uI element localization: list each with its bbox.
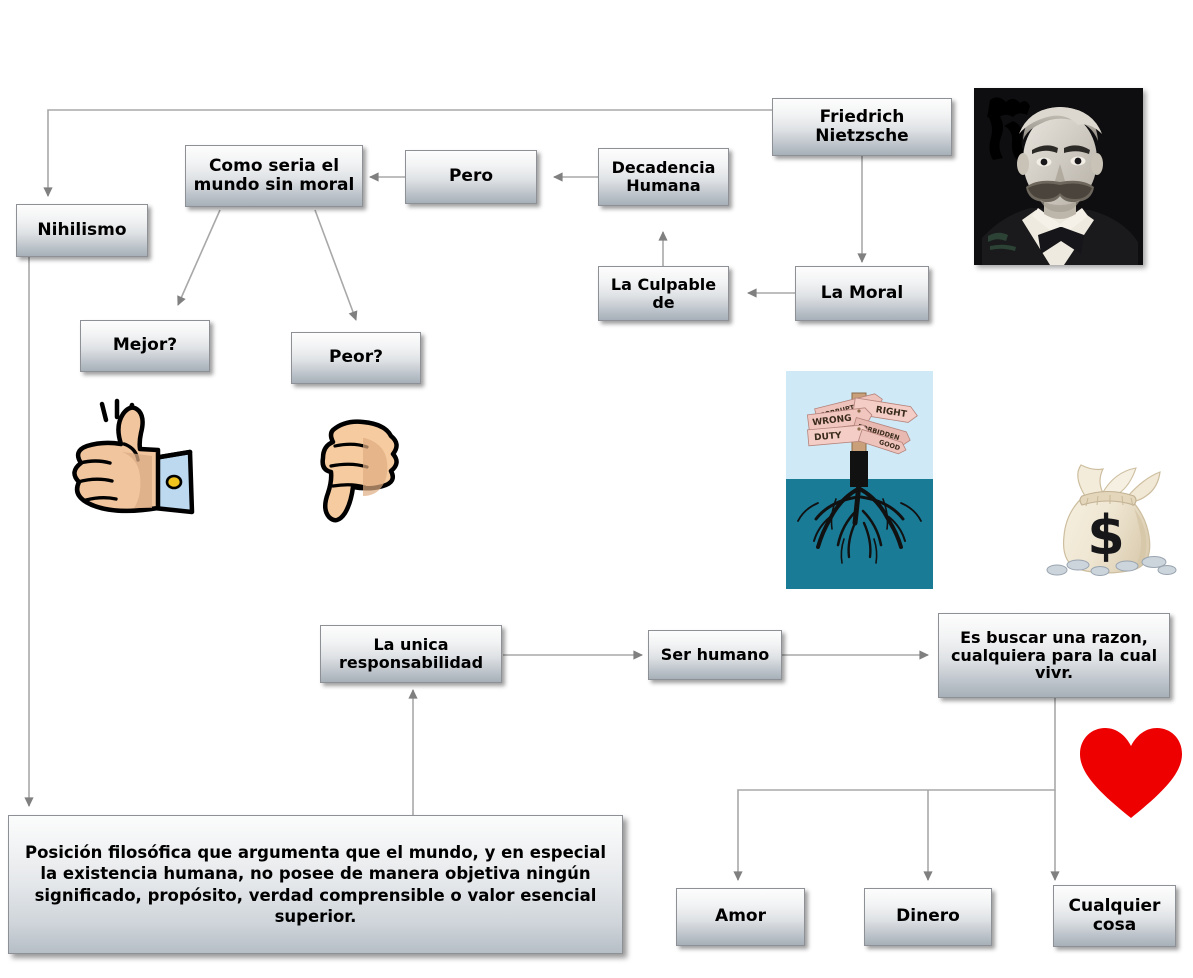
node-label: Friedrich Nietzsche [779,108,945,146]
node-label: Ser humano [655,646,775,664]
node-label: Pero [412,167,530,186]
concept-map-canvas: Friedrich Nietzsche Decadencia Humana Pe… [0,0,1193,978]
node-definicion-nihilismo[interactable]: Posición filosófica que argumenta que el… [8,815,623,954]
moral-signpost-illustration: CORRUPT RIGHT WRONG FORBIDDEN DUTY [786,371,933,589]
node-nihilismo[interactable]: Nihilismo [16,204,148,257]
node-label: Dinero [871,907,985,926]
node-ser-humano[interactable]: Ser humano [648,630,782,680]
node-label: Mejor? [87,336,203,355]
node-label: La unica responsabilidad [327,636,495,672]
node-es-buscar-una-razon[interactable]: Es buscar una razon, cualquiera para la … [938,613,1170,698]
node-como-seria-el-mundo-sin-moral[interactable]: Como seria el mundo sin moral [185,145,363,207]
edge-comoseria-to-peor [315,210,356,320]
node-label: La Culpable de [605,276,722,312]
node-decadencia-humana[interactable]: Decadencia Humana [598,148,729,206]
node-la-moral[interactable]: La Moral [795,266,929,321]
node-la-culpable-de[interactable]: La Culpable de [598,266,729,321]
node-friedrich-nietzsche[interactable]: Friedrich Nietzsche [772,98,952,156]
node-label: Peor? [298,348,414,367]
node-pero[interactable]: Pero [405,150,537,204]
money-bag-illustration: $ [1030,458,1180,580]
node-label: Amor [683,907,798,926]
node-label: Cualquier cosa [1060,897,1169,935]
node-label: Nihilismo [23,221,141,240]
svg-text:$: $ [1087,504,1125,567]
definicion-text: Posición filosófica que argumenta que el… [23,842,608,928]
node-la-unica-responsabilidad[interactable]: La unica responsabilidad [320,625,502,683]
node-peor[interactable]: Peor? [291,332,421,384]
edge-esbuscar-to-amor [738,698,1055,880]
thumbs-up-illustration [62,396,200,524]
node-cualquier-cosa[interactable]: Cualquier cosa [1053,885,1176,947]
node-label: Como seria el mundo sin moral [192,157,356,195]
edge-comoseria-to-mejor [178,210,220,305]
node-label: Es buscar una razon, cualquiera para la … [945,629,1163,683]
thumbs-down-illustration [303,398,415,528]
node-amor[interactable]: Amor [676,888,805,946]
node-mejor[interactable]: Mejor? [80,320,210,372]
node-dinero[interactable]: Dinero [864,888,992,946]
node-label: La Moral [802,284,922,303]
red-heart-illustration [1076,724,1186,820]
node-label: Decadencia Humana [605,159,722,195]
friedrich-nietzsche-portrait [974,88,1143,265]
